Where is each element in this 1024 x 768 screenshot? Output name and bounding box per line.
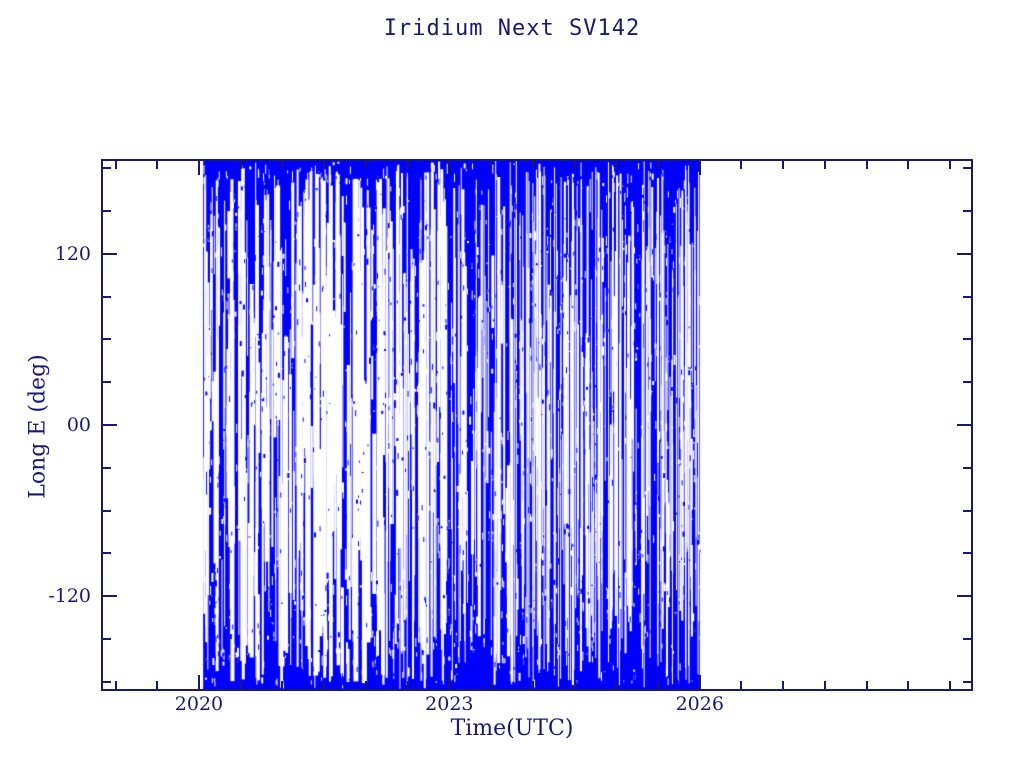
x-axis-tick-label: 2023 <box>404 693 494 715</box>
y-axis-minor-tick <box>103 681 111 683</box>
y-axis-minor-tick <box>103 510 111 512</box>
x-axis-minor-tick-top <box>574 161 576 169</box>
y-axis-minor-tick-right <box>963 638 971 640</box>
x-axis-minor-tick <box>657 681 659 689</box>
x-axis-minor-tick-top <box>532 161 534 169</box>
chart-figure: Iridium Next SV142 12000-120202020232026… <box>0 0 1024 768</box>
x-axis-minor-tick-top <box>866 161 868 169</box>
x-axis-minor-tick <box>615 681 617 689</box>
y-axis-minor-tick-right <box>963 552 971 554</box>
x-axis-minor-tick-top <box>824 161 826 169</box>
y-axis-minor-tick <box>103 296 111 298</box>
x-axis-minor-tick <box>240 681 242 689</box>
x-axis-tick-label: 2020 <box>154 693 244 715</box>
x-axis-minor-tick-top <box>782 161 784 169</box>
x-axis-minor-tick <box>281 681 283 689</box>
x-axis-minor-tick-top <box>949 161 951 169</box>
x-axis-minor-tick <box>323 681 325 689</box>
y-axis-minor-tick-right <box>963 467 971 469</box>
y-axis-major-tick-right <box>957 424 971 426</box>
y-axis-minor-tick-right <box>963 210 971 212</box>
x-axis-minor-tick-top <box>365 161 367 169</box>
x-axis-major-tick <box>448 675 450 689</box>
x-axis-minor-tick-top <box>740 161 742 169</box>
x-axis-minor-tick-top <box>907 161 909 169</box>
x-axis-minor-tick <box>407 681 409 689</box>
x-axis-title: Time(UTC) <box>0 716 1024 741</box>
y-axis-minor-tick <box>103 552 111 554</box>
x-axis-minor-tick-top <box>657 161 659 169</box>
x-axis-minor-tick <box>574 681 576 689</box>
x-axis-minor-tick <box>824 681 826 689</box>
x-axis-minor-tick-top <box>490 161 492 169</box>
x-axis-minor-tick <box>532 681 534 689</box>
x-axis-minor-tick <box>907 681 909 689</box>
data-series-canvas <box>103 161 971 689</box>
x-axis-minor-tick <box>782 681 784 689</box>
y-axis-minor-tick-right <box>963 167 971 169</box>
x-axis-minor-tick-top <box>240 161 242 169</box>
y-axis-major-tick <box>103 595 117 597</box>
x-axis-major-tick <box>699 675 701 689</box>
y-axis-minor-tick-right <box>963 381 971 383</box>
y-axis-minor-tick-right <box>963 510 971 512</box>
x-axis-minor-tick-top <box>281 161 283 169</box>
x-axis-minor-tick-top <box>323 161 325 169</box>
y-axis-minor-tick <box>103 638 111 640</box>
y-axis-minor-tick <box>103 338 111 340</box>
x-axis-minor-tick <box>115 681 117 689</box>
y-axis-minor-tick-right <box>963 338 971 340</box>
y-axis-minor-tick <box>103 381 111 383</box>
y-axis-major-tick-right <box>957 253 971 255</box>
y-axis-major-tick <box>103 424 117 426</box>
plot-area <box>101 159 973 691</box>
x-axis-major-tick-top <box>198 161 200 175</box>
page-title: Iridium Next SV142 <box>0 16 1024 41</box>
y-axis-major-tick <box>103 253 117 255</box>
y-axis-tick-label: 120 <box>21 243 91 265</box>
y-axis-minor-tick-right <box>963 681 971 683</box>
y-axis-minor-tick <box>103 210 111 212</box>
x-axis-minor-tick-top <box>156 161 158 169</box>
x-axis-minor-tick-top <box>615 161 617 169</box>
y-axis-title: Long E (deg) <box>26 297 51 557</box>
y-axis-tick-label: -120 <box>21 585 91 607</box>
y-axis-minor-tick <box>103 167 111 169</box>
x-axis-minor-tick <box>866 681 868 689</box>
x-axis-minor-tick <box>949 681 951 689</box>
x-axis-minor-tick <box>365 681 367 689</box>
y-axis-minor-tick-right <box>963 296 971 298</box>
x-axis-minor-tick <box>490 681 492 689</box>
x-axis-minor-tick <box>156 681 158 689</box>
y-axis-major-tick-right <box>957 595 971 597</box>
x-axis-major-tick-top <box>448 161 450 175</box>
x-axis-major-tick-top <box>699 161 701 175</box>
x-axis-minor-tick-top <box>407 161 409 169</box>
x-axis-tick-label: 2026 <box>655 693 745 715</box>
x-axis-minor-tick-top <box>115 161 117 169</box>
y-axis-minor-tick <box>103 467 111 469</box>
x-axis-minor-tick <box>740 681 742 689</box>
x-axis-major-tick <box>198 675 200 689</box>
